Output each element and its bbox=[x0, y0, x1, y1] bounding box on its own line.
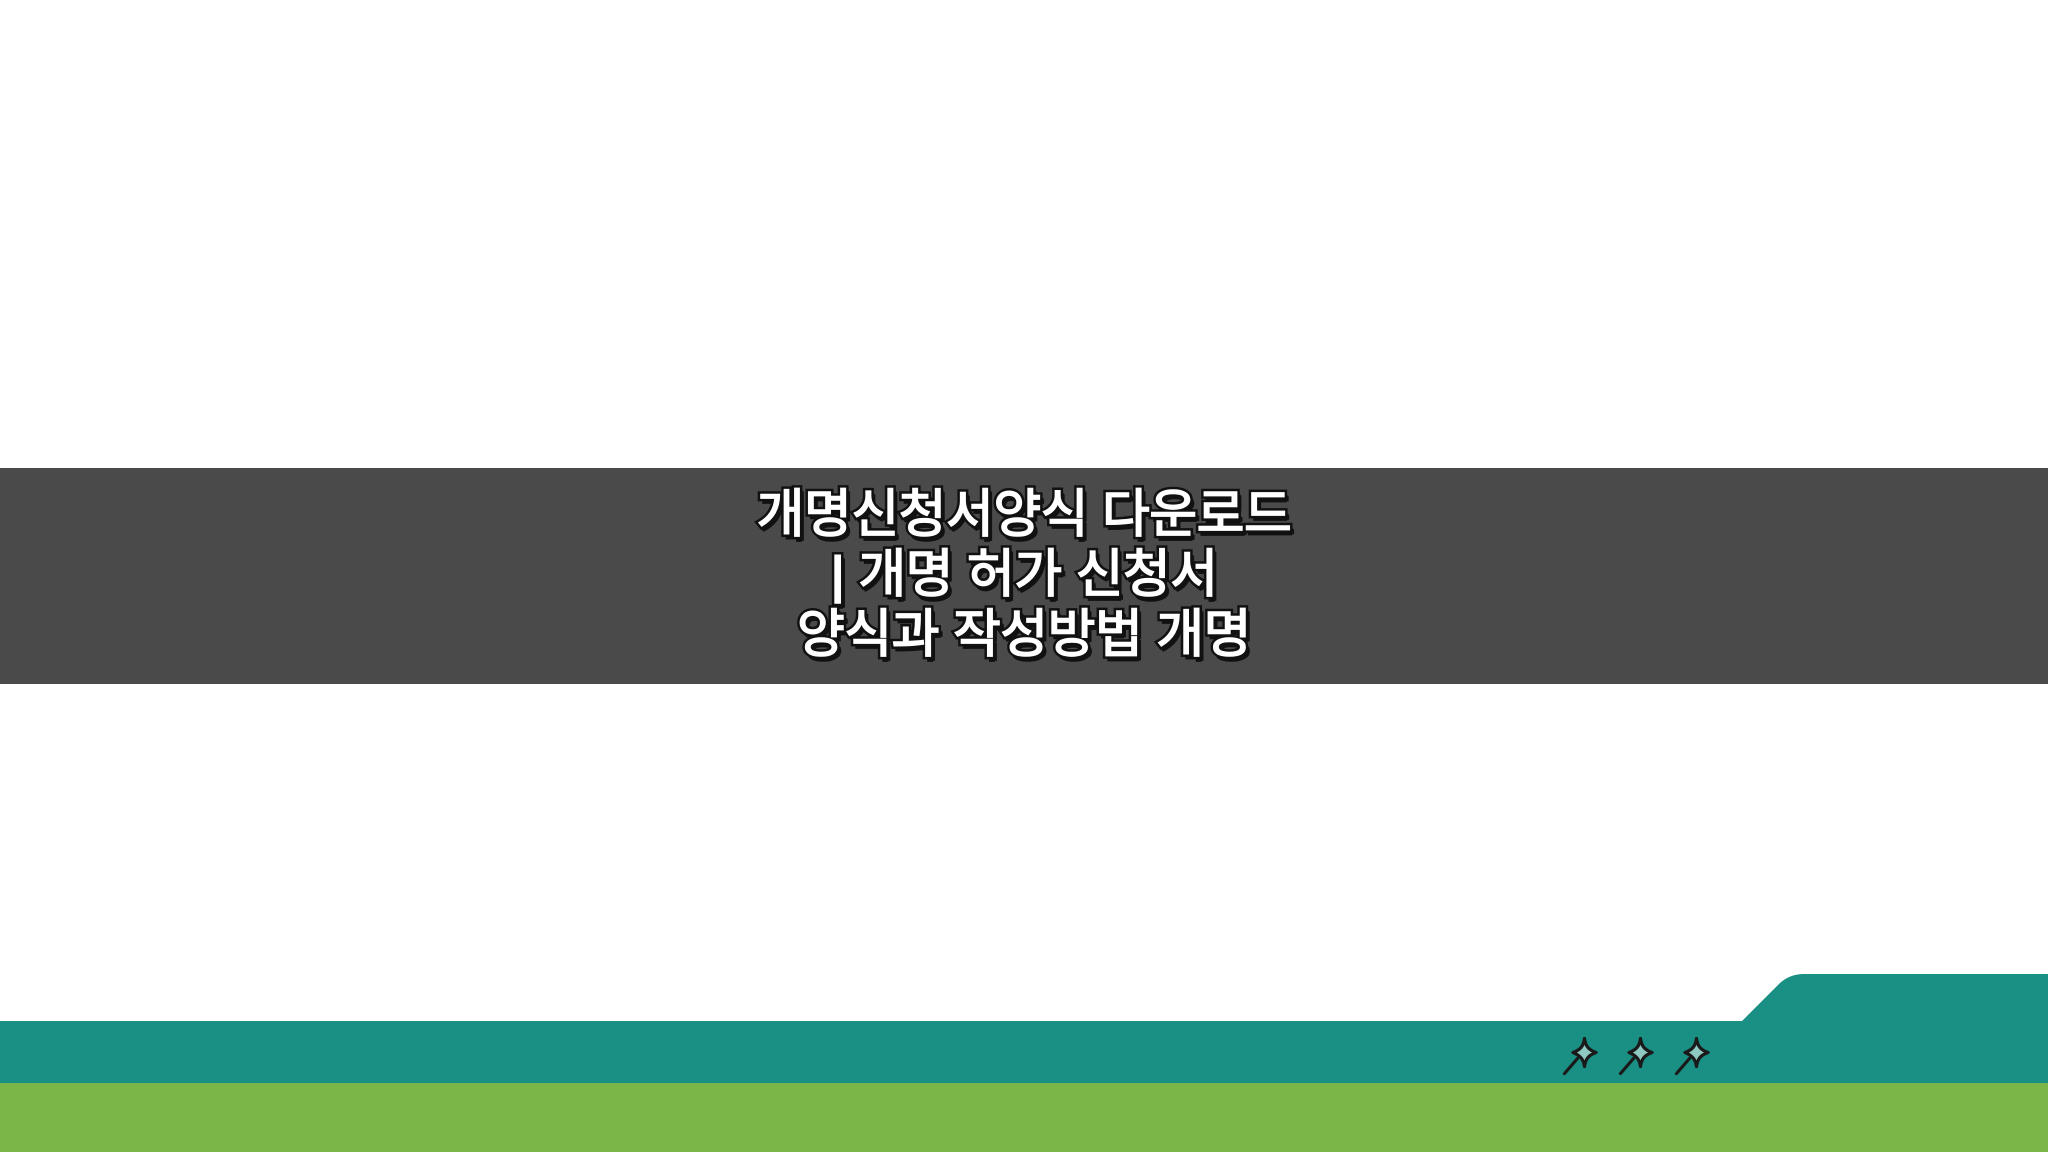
teal-bar bbox=[0, 974, 2048, 1083]
title-line-3: 양식과 작성방법 개명 bbox=[757, 605, 1292, 665]
title-banner: 개명신청서양식 다운로드 | 개명 허가 신청서 양식과 작성방법 개명 bbox=[0, 468, 2048, 684]
sparkle-icon-2 bbox=[1616, 1034, 1656, 1078]
title-line-1: 개명신청서양식 다운로드 bbox=[757, 485, 1292, 545]
title-line-2: | 개명 허가 신청서 bbox=[757, 545, 1292, 605]
sparkle-icon-3 bbox=[1672, 1034, 1712, 1078]
green-bar bbox=[0, 1083, 2048, 1152]
sparkle-icon-1 bbox=[1560, 1034, 1600, 1078]
footer-decoration bbox=[0, 960, 2048, 1152]
page-title: 개명신청서양식 다운로드 | 개명 허가 신청서 양식과 작성방법 개명 bbox=[757, 485, 1292, 667]
thumbnail-canvas: 개명신청서양식 다운로드 | 개명 허가 신청서 양식과 작성방법 개명 bbox=[0, 0, 2048, 1152]
sparkle-icon-row bbox=[1560, 1032, 1720, 1080]
